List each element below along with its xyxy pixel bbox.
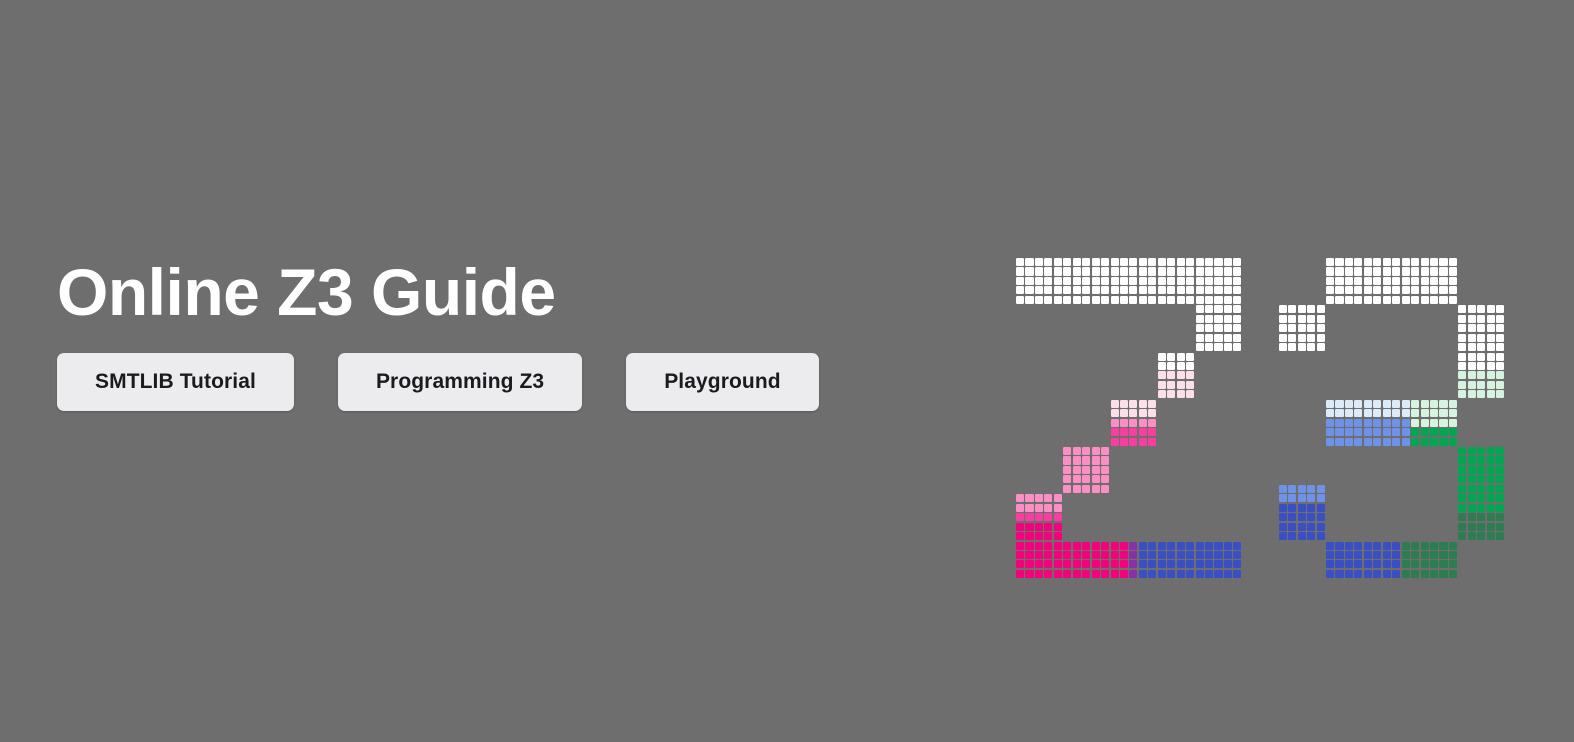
logo-pixel — [1111, 286, 1119, 294]
logo-pixel — [1468, 513, 1476, 521]
logo-pixel — [1392, 428, 1400, 436]
logo-pixel — [1496, 513, 1504, 521]
logo-pixel — [1111, 296, 1119, 304]
logo-pixel — [1092, 277, 1100, 285]
logo-pixel — [1025, 296, 1033, 304]
logo-pixel — [1167, 570, 1175, 578]
logo-pixel — [1477, 494, 1485, 502]
logo-pixel — [1092, 286, 1100, 294]
logo-pixel — [1449, 277, 1457, 285]
logo-pixel — [1354, 286, 1362, 294]
logo-pixel — [1421, 258, 1429, 266]
logo-pixel — [1421, 542, 1429, 550]
logo-pixel — [1016, 551, 1024, 559]
logo-pixel — [1016, 286, 1024, 294]
logo-pixel — [1307, 334, 1315, 342]
logo-pixel — [1063, 466, 1071, 474]
logo-pixel — [1101, 466, 1109, 474]
logo-pixel — [1487, 315, 1495, 323]
logo-pixel — [1298, 532, 1306, 540]
logo-pixel — [1335, 400, 1343, 408]
logo-pixel — [1082, 570, 1090, 578]
logo-pixel — [1139, 409, 1147, 417]
logo-pixel — [1477, 390, 1485, 398]
logo-pixel — [1439, 542, 1447, 550]
logo-pixel — [1335, 570, 1343, 578]
logo-pixel — [1449, 409, 1457, 417]
logo-pixel — [1054, 258, 1062, 266]
logo-pixel — [1111, 560, 1119, 568]
logo-pixel — [1468, 494, 1476, 502]
logo-pixel — [1373, 277, 1381, 285]
logo-pixel — [1288, 334, 1296, 342]
logo-pixel — [1373, 428, 1381, 436]
logo-pixel — [1205, 542, 1213, 550]
logo-pixel — [1487, 381, 1495, 389]
logo-pixel — [1035, 504, 1043, 512]
logo-pixel — [1129, 258, 1137, 266]
logo-pixel — [1177, 560, 1185, 568]
logo-pixel — [1214, 296, 1222, 304]
logo-pixel — [1148, 267, 1156, 275]
logo-pixel — [1402, 551, 1410, 559]
logo-pixel — [1279, 513, 1287, 521]
logo-pixel — [1101, 475, 1109, 483]
logo-pixel — [1335, 296, 1343, 304]
logo-pixel — [1354, 267, 1362, 275]
logo-pixel — [1411, 277, 1419, 285]
logo-pixel — [1364, 277, 1372, 285]
logo-pixel — [1373, 400, 1381, 408]
logo-pixel — [1148, 560, 1156, 568]
logo-pixel — [1025, 277, 1033, 285]
logo-pixel — [1196, 277, 1204, 285]
logo-pixel — [1468, 504, 1476, 512]
logo-pixel — [1383, 560, 1391, 568]
logo-pixel — [1421, 570, 1429, 578]
logo-pixel — [1477, 523, 1485, 531]
programming-z3-button[interactable]: Programming Z3 — [338, 353, 582, 411]
logo-pixel — [1233, 334, 1241, 342]
logo-pixel — [1148, 296, 1156, 304]
logo-pixel — [1468, 362, 1476, 370]
logo-pixel — [1430, 400, 1438, 408]
logo-pixel — [1120, 570, 1128, 578]
logo-pixel — [1092, 542, 1100, 550]
logo-pixel — [1139, 286, 1147, 294]
logo-pixel — [1487, 504, 1495, 512]
logo-pixel — [1421, 296, 1429, 304]
logo-pixel — [1373, 542, 1381, 550]
logo-pixel — [1326, 542, 1334, 550]
logo-pixel — [1421, 277, 1429, 285]
logo-pixel — [1373, 258, 1381, 266]
logo-pixel — [1364, 267, 1372, 275]
logo-pixel — [1402, 438, 1410, 446]
logo-pixel — [1063, 551, 1071, 559]
logo-pixel — [1421, 267, 1429, 275]
logo-pixel — [1073, 551, 1081, 559]
logo-pixel — [1468, 324, 1476, 332]
logo-pixel — [1063, 485, 1071, 493]
logo-pixel — [1364, 286, 1372, 294]
logo-pixel — [1082, 485, 1090, 493]
logo-pixel — [1158, 286, 1166, 294]
smtlib-tutorial-button[interactable]: SMTLIB Tutorial — [57, 353, 294, 411]
logo-pixel — [1016, 523, 1024, 531]
logo-pixel — [1411, 428, 1419, 436]
logo-pixel — [1477, 353, 1485, 361]
logo-pixel — [1288, 523, 1296, 531]
logo-pixel — [1326, 560, 1334, 568]
logo-pixel — [1468, 532, 1476, 540]
logo-pixel — [1402, 400, 1410, 408]
logo-pixel — [1196, 324, 1204, 332]
logo-pixel — [1326, 296, 1334, 304]
logo-pixel — [1402, 419, 1410, 427]
logo-pixel — [1205, 324, 1213, 332]
logo-pixel — [1430, 258, 1438, 266]
logo-pixel — [1496, 390, 1504, 398]
logo-pixel — [1016, 494, 1024, 502]
logo-pixel — [1044, 542, 1052, 550]
logo-pixel — [1035, 560, 1043, 568]
logo-pixel — [1129, 400, 1137, 408]
logo-pixel — [1035, 296, 1043, 304]
logo-pixel — [1298, 485, 1306, 493]
logo-pixel — [1025, 570, 1033, 578]
logo-pixel — [1139, 542, 1147, 550]
logo-pixel — [1354, 560, 1362, 568]
playground-button[interactable]: Playground — [626, 353, 819, 411]
logo-pixel — [1044, 523, 1052, 531]
logo-pixel — [1354, 542, 1362, 550]
logo-pixel — [1317, 315, 1325, 323]
logo-pixel — [1458, 334, 1466, 342]
logo-pixel — [1468, 334, 1476, 342]
logo-pixel — [1167, 371, 1175, 379]
logo-pixel — [1487, 532, 1495, 540]
logo-pixel — [1307, 324, 1315, 332]
logo-pixel — [1025, 504, 1033, 512]
logo-pixel — [1468, 305, 1476, 313]
logo-pixel — [1402, 296, 1410, 304]
logo-pixel — [1496, 466, 1504, 474]
logo-pixel — [1101, 570, 1109, 578]
logo-pixel — [1101, 560, 1109, 568]
logo-pixel — [1016, 570, 1024, 578]
logo-pixel — [1430, 551, 1438, 559]
logo-pixel — [1449, 258, 1457, 266]
logo-pixel — [1092, 570, 1100, 578]
logo-pixel — [1345, 409, 1353, 417]
logo-pixel — [1307, 532, 1315, 540]
logo-pixel — [1449, 296, 1457, 304]
logo-pixel — [1073, 267, 1081, 275]
logo-pixel — [1205, 277, 1213, 285]
logo-pixel — [1177, 570, 1185, 578]
logo-pixel — [1458, 513, 1466, 521]
logo-pixel — [1430, 560, 1438, 568]
logo-pixel — [1496, 315, 1504, 323]
logo-pixel — [1158, 570, 1166, 578]
logo-pixel — [1073, 570, 1081, 578]
logo-pixel — [1101, 286, 1109, 294]
logo-pixel — [1468, 390, 1476, 398]
logo-pixel — [1439, 277, 1447, 285]
logo-pixel — [1158, 542, 1166, 550]
logo-pixel — [1196, 560, 1204, 568]
logo-pixel — [1392, 419, 1400, 427]
logo-pixel — [1430, 277, 1438, 285]
logo-pixel — [1016, 513, 1024, 521]
logo-pixel — [1487, 447, 1495, 455]
logo-pixel — [1317, 504, 1325, 512]
logo-pixel — [1214, 542, 1222, 550]
logo-pixel — [1354, 400, 1362, 408]
logo-pixel — [1063, 277, 1071, 285]
logo-pixel — [1335, 542, 1343, 550]
logo-pixel — [1477, 447, 1485, 455]
logo-pixel — [1421, 428, 1429, 436]
logo-pixel — [1392, 438, 1400, 446]
logo-pixel — [1016, 504, 1024, 512]
logo-pixel — [1025, 551, 1033, 559]
logo-pixel — [1439, 286, 1447, 294]
logo-pixel — [1477, 513, 1485, 521]
logo-pixel — [1111, 542, 1119, 550]
logo-pixel — [1279, 504, 1287, 512]
logo-pixel — [1288, 494, 1296, 502]
logo-pixel — [1205, 551, 1213, 559]
logo-pixel — [1120, 286, 1128, 294]
logo-pixel — [1016, 560, 1024, 568]
logo-pixel — [1458, 390, 1466, 398]
logo-pixel — [1298, 324, 1306, 332]
logo-pixel — [1458, 305, 1466, 313]
logo-pixel — [1205, 258, 1213, 266]
logo-pixel — [1364, 551, 1372, 559]
logo-pixel — [1044, 504, 1052, 512]
logo-pixel — [1111, 277, 1119, 285]
logo-pixel — [1214, 277, 1222, 285]
logo-pixel — [1025, 542, 1033, 550]
logo-pixel — [1326, 267, 1334, 275]
logo-pixel — [1082, 258, 1090, 266]
logo-pixel — [1477, 315, 1485, 323]
logo-pixel — [1468, 353, 1476, 361]
logo-pixel — [1345, 551, 1353, 559]
logo-pixel — [1224, 267, 1232, 275]
logo-pixel — [1392, 258, 1400, 266]
logo-pixel — [1186, 551, 1194, 559]
logo-pixel — [1458, 315, 1466, 323]
logo-pixel — [1477, 504, 1485, 512]
logo-pixel — [1402, 286, 1410, 294]
logo-pixel — [1468, 466, 1476, 474]
logo-pixel — [1196, 305, 1204, 313]
logo-pixel — [1092, 466, 1100, 474]
logo-pixel — [1129, 542, 1137, 550]
logo-pixel — [1449, 286, 1457, 294]
logo-pixel — [1129, 277, 1137, 285]
logo-pixel — [1411, 409, 1419, 417]
logo-pixel — [1186, 390, 1194, 398]
page-title: Online Z3 Guide — [57, 258, 977, 327]
logo-pixel — [1111, 570, 1119, 578]
logo-pixel — [1120, 428, 1128, 436]
logo-pixel — [1307, 523, 1315, 531]
logo-pixel — [1383, 428, 1391, 436]
logo-pixel — [1364, 542, 1372, 550]
logo-pixel — [1035, 258, 1043, 266]
logo-pixel — [1111, 419, 1119, 427]
logo-pixel — [1326, 438, 1334, 446]
logo-pixel — [1177, 353, 1185, 361]
logo-pixel — [1158, 560, 1166, 568]
logo-pixel — [1186, 381, 1194, 389]
logo-pixel — [1458, 362, 1466, 370]
logo-pixel — [1439, 570, 1447, 578]
logo-pixel — [1458, 447, 1466, 455]
logo-pixel — [1214, 343, 1222, 351]
logo-pixel — [1383, 258, 1391, 266]
logo-pixel — [1411, 419, 1419, 427]
logo-pixel — [1111, 428, 1119, 436]
logo-pixel — [1449, 542, 1457, 550]
logo-pixel — [1298, 513, 1306, 521]
logo-pixel — [1487, 362, 1495, 370]
logo-pixel — [1354, 570, 1362, 578]
logo-pixel — [1148, 409, 1156, 417]
logo-pixel — [1298, 305, 1306, 313]
logo-pixel — [1373, 409, 1381, 417]
logo-pixel — [1082, 286, 1090, 294]
logo-pixel — [1496, 475, 1504, 483]
logo-pixel — [1214, 324, 1222, 332]
logo-pixel — [1158, 296, 1166, 304]
logo-pixel — [1487, 485, 1495, 493]
logo-pixel — [1035, 286, 1043, 294]
logo-pixel — [1063, 258, 1071, 266]
logo-pixel — [1101, 267, 1109, 275]
logo-pixel — [1186, 570, 1194, 578]
logo-pixel — [1196, 258, 1204, 266]
logo-pixel — [1148, 438, 1156, 446]
logo-pixel — [1044, 277, 1052, 285]
logo-pixel — [1298, 494, 1306, 502]
logo-pixel — [1214, 570, 1222, 578]
logo-pixel — [1073, 485, 1081, 493]
logo-pixel — [1373, 570, 1381, 578]
logo-pixel — [1025, 258, 1033, 266]
logo-pixel — [1205, 343, 1213, 351]
logo-pixel — [1373, 438, 1381, 446]
logo-pixel — [1073, 560, 1081, 568]
logo-pixel — [1307, 315, 1315, 323]
logo-pixel — [1373, 419, 1381, 427]
logo-pixel — [1177, 381, 1185, 389]
logo-pixel — [1082, 267, 1090, 275]
logo-pixel — [1326, 428, 1334, 436]
logo-pixel — [1167, 353, 1175, 361]
logo-pixel — [1073, 286, 1081, 294]
logo-pixel — [1307, 343, 1315, 351]
logo-pixel — [1196, 267, 1204, 275]
logo-pixel — [1158, 371, 1166, 379]
logo-pixel — [1233, 286, 1241, 294]
logo-pixel — [1101, 296, 1109, 304]
logo-pixel — [1279, 523, 1287, 531]
logo-pixel — [1177, 371, 1185, 379]
logo-pixel — [1364, 560, 1372, 568]
logo-pixel — [1307, 504, 1315, 512]
logo-pixel — [1111, 400, 1119, 408]
logo-pixel — [1364, 428, 1372, 436]
logo-pixel — [1326, 551, 1334, 559]
logo-pixel — [1148, 400, 1156, 408]
logo-pixel — [1383, 286, 1391, 294]
logo-pixel — [1496, 456, 1504, 464]
logo-pixel — [1477, 334, 1485, 342]
logo-pixel — [1025, 267, 1033, 275]
logo-pixel — [1326, 258, 1334, 266]
logo-pixel — [1224, 570, 1232, 578]
hero-section: Online Z3 Guide SMTLIB TutorialProgrammi… — [0, 0, 1574, 742]
logo-pixel — [1345, 286, 1353, 294]
logo-pixel — [1354, 277, 1362, 285]
logo-pixel — [1167, 258, 1175, 266]
logo-pixel — [1224, 324, 1232, 332]
logo-pixel — [1392, 560, 1400, 568]
logo-pixel — [1496, 371, 1504, 379]
logo-pixel — [1120, 560, 1128, 568]
logo-pixel — [1449, 551, 1457, 559]
logo-pixel — [1392, 400, 1400, 408]
logo-pixel — [1082, 542, 1090, 550]
logo-pixel — [1326, 570, 1334, 578]
logo-pixel — [1458, 466, 1466, 474]
logo-pixel — [1335, 286, 1343, 294]
logo-pixel — [1186, 560, 1194, 568]
logo-pixel — [1373, 286, 1381, 294]
logo-pixel — [1354, 258, 1362, 266]
logo-pixel — [1345, 296, 1353, 304]
logo-pixel — [1411, 438, 1419, 446]
logo-pixel — [1477, 343, 1485, 351]
logo-pixel — [1129, 570, 1137, 578]
logo-pixel — [1317, 532, 1325, 540]
logo-pixel — [1468, 381, 1476, 389]
logo-pixel — [1233, 542, 1241, 550]
logo-pixel — [1054, 513, 1062, 521]
logo-pixel — [1120, 409, 1128, 417]
logo-pixel — [1158, 277, 1166, 285]
logo-pixel — [1139, 267, 1147, 275]
logo-pixel — [1233, 560, 1241, 568]
logo-pixel — [1054, 277, 1062, 285]
logo-pixel — [1449, 400, 1457, 408]
logo-pixel — [1129, 551, 1137, 559]
logo-pixel — [1158, 258, 1166, 266]
logo-pixel — [1177, 390, 1185, 398]
logo-pixel — [1298, 343, 1306, 351]
logo-pixel — [1063, 542, 1071, 550]
logo-pixel — [1392, 286, 1400, 294]
logo-pixel — [1458, 324, 1466, 332]
logo-pixel — [1120, 400, 1128, 408]
logo-pixel — [1016, 532, 1024, 540]
